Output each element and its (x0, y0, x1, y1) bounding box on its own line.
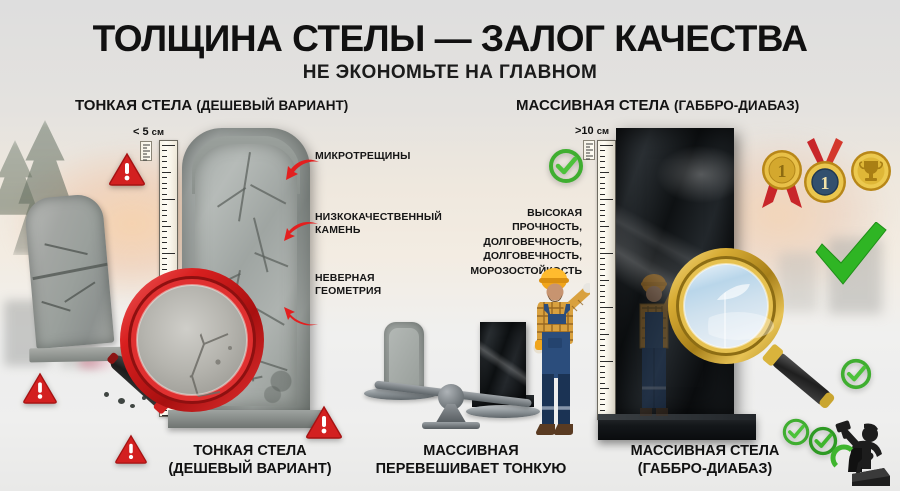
ruler-tick (162, 156, 167, 157)
ruler-tick (600, 177, 605, 178)
ruler-tick (600, 399, 605, 400)
page-subtitle: НЕ ЭКОНОМЬТЕ НА ГЛАВНОМ (0, 62, 900, 84)
ruler-tick (600, 393, 605, 394)
ruler-tick (600, 194, 605, 195)
ruler-massive-stele (597, 140, 616, 420)
ruler-tick (600, 150, 605, 151)
scale-foot (422, 422, 480, 429)
ruler-tick (600, 215, 605, 216)
ruler-tick (162, 215, 167, 216)
ruler-tick (600, 388, 609, 389)
section-heading-thin-main: ТОНКАЯ СТЕЛА (75, 97, 196, 114)
ruler-tick (600, 356, 605, 357)
measure-value-thin: < 5 (133, 126, 152, 138)
ruler-tick (600, 248, 605, 249)
ruler-tick (162, 150, 167, 151)
ruler-tick (162, 188, 167, 189)
ruler-tick (162, 172, 171, 173)
ruler-tick (600, 296, 605, 297)
check-circle-icon (548, 148, 584, 184)
award-medals-group: 1 1 (757, 138, 897, 224)
ruler-tick (600, 383, 605, 384)
ruler-tick (162, 161, 167, 162)
ruler-tick (162, 221, 167, 222)
section-heading-massive: МАССИВНАЯ СТЕЛА (ГАББРО-ДИАБАЗ) (516, 97, 799, 114)
ruler-tick (162, 194, 167, 195)
ruler-tick (600, 237, 605, 238)
section-heading-thin: ТОНКАЯ СТЕЛА (ДЕШЕВЫЙ ВАРИАНТ) (75, 97, 348, 114)
ruler-tick (162, 183, 167, 184)
ruler-tick (600, 258, 605, 259)
svg-text:1: 1 (778, 161, 787, 181)
ruler-tick (162, 145, 175, 146)
measure-label-massive: >10 см (575, 125, 609, 137)
section-heading-thin-paren: (ДЕШЕВЫЙ ВАРИАНТ) (196, 98, 348, 113)
ruler-tick (600, 350, 605, 351)
ruler-tick (600, 334, 609, 335)
ruler-tick (600, 264, 605, 265)
callout-microcracks: МИКРОТРЕЩИНЫ (315, 150, 410, 163)
ruler-tick (600, 242, 605, 243)
ruler-tick (600, 323, 605, 324)
page-title: ТОЛЩИНА СТЕЛЫ — ЗАЛОГ КАЧЕСТВА (0, 18, 900, 60)
ruler-tick (600, 361, 613, 362)
ruler-tick (600, 221, 605, 222)
ruler-tick (600, 404, 605, 405)
ruler-tick (600, 253, 613, 254)
measure-label-thin: < 5 см (133, 126, 164, 138)
gold-magnifier (662, 244, 848, 439)
measure-unit-thin: см (152, 127, 164, 138)
ruler-tick (600, 339, 605, 340)
ruler-tick (600, 199, 613, 200)
ruler-tick (162, 248, 167, 249)
ruler-tick (162, 231, 167, 232)
ruler-tick (600, 269, 605, 270)
ruler-tick (600, 145, 613, 146)
ruler-tick (600, 188, 605, 189)
ruler-tick (600, 410, 605, 411)
ruler-tick (162, 237, 167, 238)
ruler-tick (162, 199, 175, 200)
ruler-tick (162, 177, 167, 178)
warning-triangle-icon (108, 152, 146, 186)
balance-scale (362, 300, 542, 428)
ruler-tick (600, 291, 605, 292)
ruler-tick (600, 167, 605, 168)
ruler-tick (600, 210, 605, 211)
ruler-tick (600, 307, 613, 308)
warning-triangle-icon (305, 405, 343, 439)
scale-massive-stele (480, 322, 526, 400)
ruler-tick (600, 329, 605, 330)
infographic-canvas: ТОЛЩИНА СТЕЛЫ — ЗАЛОГ КАЧЕСТВА НЕ ЭКОНОМ… (0, 0, 900, 491)
scale-thin-stele (384, 322, 424, 390)
ruler-tick (600, 345, 605, 346)
ruler-tick (600, 302, 605, 303)
ruler-tick (600, 318, 605, 319)
ruler-tick (162, 210, 167, 211)
ruler-tick (600, 231, 605, 232)
ruler-tick (600, 275, 605, 276)
caption-balance: МАССИВНАЯ ПЕРЕВЕШИВАЕТ ТОНКУЮ (355, 443, 587, 478)
ruler-tick (162, 226, 171, 227)
arrow-wrong-geometry (284, 296, 318, 326)
ruler-tick (600, 312, 605, 313)
ruler-tick (600, 372, 605, 373)
ruler-tick (162, 204, 167, 205)
ruler-tick (600, 377, 605, 378)
ruler-tick (600, 280, 609, 281)
ruler-tick (162, 253, 175, 254)
callout-wrong-geometry: НЕВЕРНАЯ ГЕОМЕТРИЯ (315, 272, 381, 298)
ruler-tick (600, 226, 609, 227)
red-magnifier (88, 258, 278, 453)
ruler-tick (600, 285, 605, 286)
ruler-icon-massive (583, 140, 595, 160)
ruler-tick (162, 242, 167, 243)
measure-value-massive: >10 (575, 125, 597, 137)
warning-triangle-icon (22, 372, 58, 404)
gold-medal-trophy (847, 146, 895, 201)
svg-text:1: 1 (821, 173, 830, 193)
ruler-tick (600, 183, 605, 184)
stonemason-logo (826, 418, 896, 488)
section-heading-massive-paren: (ГАББРО-ДИАБАЗ) (674, 98, 799, 113)
ruler-tick (162, 167, 167, 168)
ruler-tick (600, 204, 605, 205)
caption-thin-stele: ТОНКАЯ СТЕЛА (ДЕШЕВЫЙ ВАРИАНТ) (120, 443, 380, 478)
section-heading-massive-main: МАССИВНАЯ СТЕЛА (516, 97, 674, 114)
ruler-tick (600, 172, 609, 173)
callout-low-quality-stone: НИЗКОКАЧЕСТВЕННЫЙ КАМЕНЬ (315, 211, 442, 237)
measure-unit-massive: см (597, 126, 609, 137)
ruler-tick (600, 161, 605, 162)
arrow-low-quality-stone (284, 222, 318, 246)
ruler-tick (600, 366, 605, 367)
gold-medal-ribbon-top: 1 (798, 138, 852, 215)
caption-massive-stele: МАССИВНАЯ СТЕЛА (ГАББРО-ДИАБАЗ) (580, 443, 830, 478)
ruler-tick (600, 156, 605, 157)
